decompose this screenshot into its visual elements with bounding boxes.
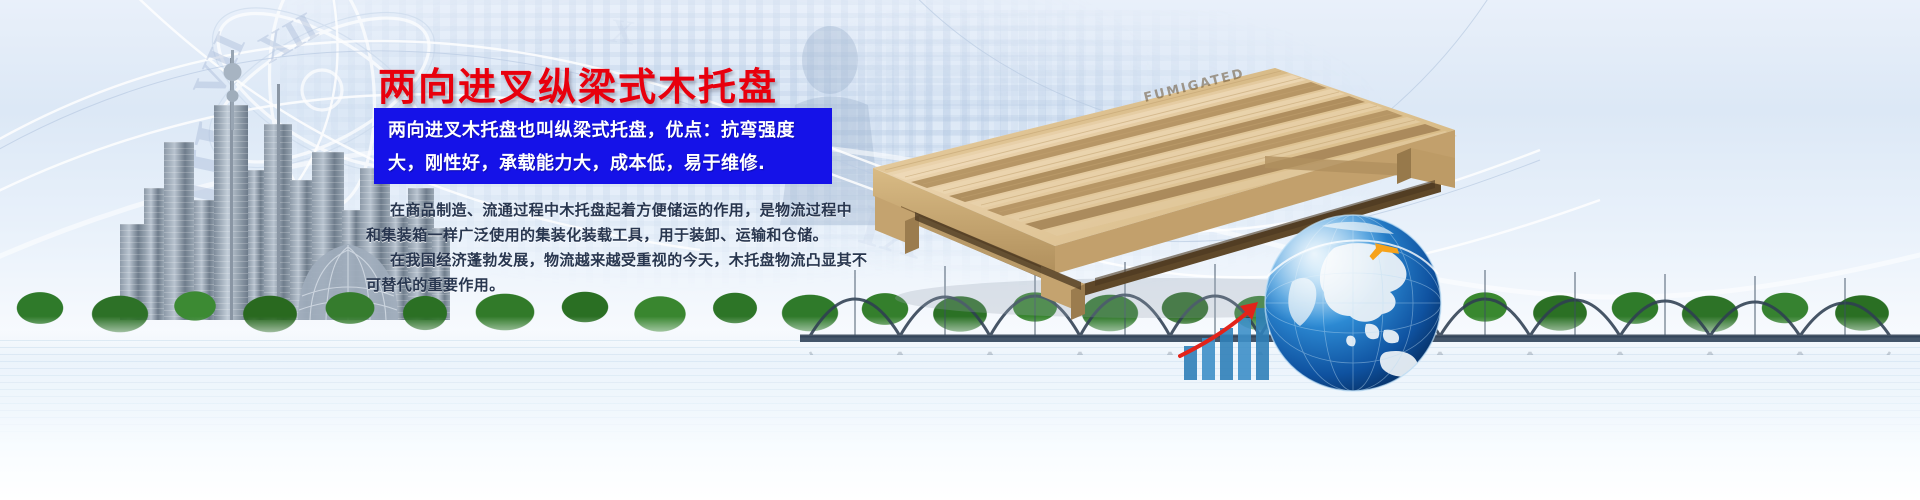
- paragraph-line-3: 在我国经济蓬勃发展，物流越来越受重视的今天，木托盘物流凸显其不: [366, 248, 844, 273]
- earth-globe-graphic: [1262, 212, 1444, 394]
- water-ripple-lines: [0, 340, 1920, 460]
- callout-line-2: 大，刚性好，承载能力大，成本低，易于维修.: [388, 147, 818, 180]
- paragraph-line-4: 可替代的重要作用。: [366, 273, 844, 298]
- paragraph-line-2: 和集装箱一样广泛使用的集装化装载工具，用于装卸、运输和仓储。: [366, 223, 844, 248]
- product-banner: VIII VII XII IX X: [0, 0, 1920, 500]
- tv-tower-icon: [220, 50, 246, 130]
- highlight-callout-box: 两向进叉木托盘也叫纵梁式托盘，优点：抗弯强度 大，刚性好，承载能力大，成本低，易…: [374, 108, 832, 184]
- roman-numeral-x: X: [607, 12, 637, 53]
- paragraph-line-1: 在商品制造、流通过程中木托盘起着方便储运的作用，是物流过程中: [366, 198, 844, 223]
- page-title: 两向进叉纵梁式木托盘: [378, 56, 778, 111]
- description-paragraph: 在商品制造、流通过程中木托盘起着方便储运的作用，是物流过程中 和集装箱一样广泛使…: [366, 198, 844, 298]
- callout-line-1: 两向进叉木托盘也叫纵梁式托盘，优点：抗弯强度: [388, 114, 818, 147]
